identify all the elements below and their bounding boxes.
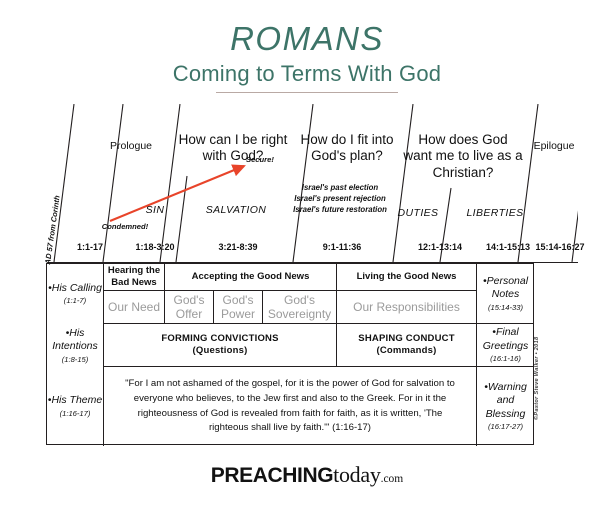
mode-sub-2: (Commands) — [376, 345, 436, 356]
left-label-1: •His Calling — [48, 282, 102, 294]
mode-title-2: SHAPING CONDUCT — [358, 333, 454, 344]
left-verses-3: (1:16-17) — [48, 409, 102, 419]
right-verses-2: (16:1-16) — [477, 354, 534, 364]
table-mode-shaping-conduct: SHAPING CONDUCT (Commands) — [337, 324, 477, 367]
table-mode-forming-convictions: FORMING CONVICTIONS (Questions) — [104, 324, 337, 367]
diagram-section-prologue: Prologue — [103, 140, 159, 153]
table-heading-bad-news: Hearing the Bad News — [104, 264, 165, 291]
copyright-text: ©Pastor Steve Walker • 2018 — [534, 337, 540, 420]
diagram-israel-note-2: Israel's present rejection — [280, 193, 400, 204]
diagram-section-christian-living: How does God want me to live as a Christ… — [403, 132, 523, 181]
infographic-page: ROMANS Coming to Terms With God — [0, 0, 614, 506]
diagram-sub-duties: DUTIES — [388, 207, 448, 220]
table-theme-our-need: Our Need — [104, 291, 165, 324]
structure-table: •His Calling (1:1-7) •His Intentions (1:… — [46, 263, 534, 445]
left-verses-2: (1:8-15) — [47, 355, 103, 365]
left-label-3: •His Theme — [48, 394, 102, 406]
table-left-cell-theme: •His Theme (1:16-17) — [47, 367, 104, 446]
left-verses-1: (1:1-7) — [48, 296, 102, 306]
right-label-2: •Final Greetings — [483, 326, 529, 351]
left-label-2: •His Intentions — [52, 327, 98, 352]
reference-1: 1:1-17 — [58, 242, 122, 252]
reference-3: 3:21-8:39 — [200, 242, 276, 252]
diagram-section-epilogue: Epilogue — [527, 140, 581, 153]
logo-today: today — [333, 462, 380, 487]
page-title: ROMANS — [0, 22, 614, 57]
reference-strip: 1:1-17 1:18-3:20 3:21-8:39 9:1-11:36 12:… — [48, 236, 578, 262]
title-block: ROMANS Coming to Terms With God — [0, 22, 614, 93]
table-heading-accepting: Accepting the Good News — [165, 264, 337, 291]
table-theme-quote: "For I am not ashamed of the gospel, for… — [104, 367, 477, 446]
preaching-today-logo: PREACHINGtoday.com — [0, 462, 614, 488]
table-theme-our-responsibilities: Our Responsibilities — [337, 291, 477, 324]
arrow-start-label: Condemned! — [90, 222, 160, 231]
title-underline — [216, 92, 398, 93]
table-right-cell-warning-blessing: •Warning and Blessing (16:17-27) — [477, 367, 534, 446]
reference-7: 15:14-16:27 — [520, 242, 600, 252]
page-subtitle: Coming to Terms With God — [0, 61, 614, 87]
mode-sub-1: (Questions) — [193, 345, 248, 356]
diagram-sub-salvation: SALVATION — [193, 204, 279, 217]
table-left-cell-intentions: •His Intentions (1:8-15) — [47, 324, 104, 367]
table-left-cell-calling: •His Calling (1:1-7) — [47, 264, 104, 324]
reference-4: 9:1-11:36 — [302, 242, 382, 252]
table-right-cell-personal-notes: •Personal Notes (15:14-33) — [477, 264, 534, 324]
table-theme-gods-sovereignty: God's Sovereignty — [263, 291, 337, 324]
table-theme-gods-power: God's Power — [214, 291, 263, 324]
logo-tld: .com — [381, 473, 404, 485]
diagram-israel-note-1: Israel's past election — [280, 182, 400, 193]
right-label-1: •Personal Notes — [483, 275, 528, 300]
right-verses-3: (16:17-27) — [477, 422, 534, 432]
table-heading-living: Living the Good News — [337, 264, 477, 291]
reference-2: 1:18-3:20 — [120, 242, 190, 252]
table-right-cell-final-greetings: •Final Greetings (16:1-16) — [477, 324, 534, 367]
diagram-section-gods-plan: How do I fit into God's plan? — [294, 132, 400, 165]
right-label-3: •Warning and Blessing — [484, 381, 527, 420]
diagram-sub-sin: SIN — [128, 204, 182, 217]
diagram-israel-note-3: Israel's future restoration — [280, 204, 400, 215]
diagram-sub-liberties: LIBERTIES — [460, 207, 530, 220]
mode-title-1: FORMING CONVICTIONS — [161, 333, 278, 344]
logo-preaching: PREACHING — [211, 464, 333, 487]
copyright-rail: ©Pastor Steve Walker • 2018 — [540, 288, 552, 420]
right-verses-1: (15:14-33) — [477, 303, 534, 313]
arrow-end-label: Secure! — [246, 155, 292, 164]
table-theme-gods-offer: God's Offer — [165, 291, 214, 324]
